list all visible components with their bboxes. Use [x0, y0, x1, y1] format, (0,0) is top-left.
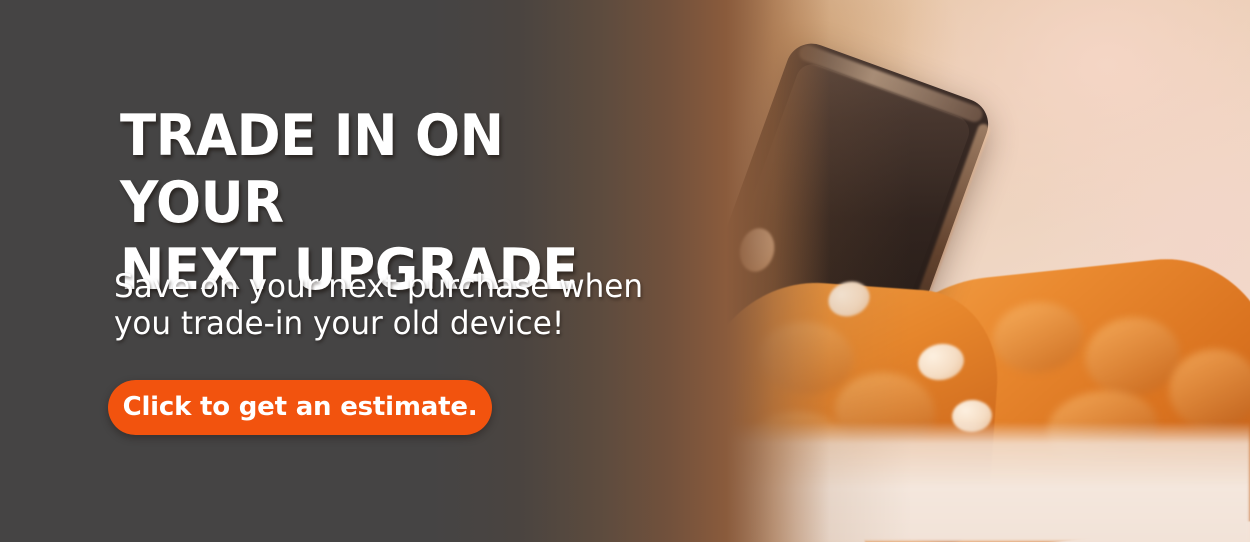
promotional-banner: TRADE IN ON YOUR NEXT UPGRADE Save on yo… — [0, 0, 1250, 542]
get-estimate-button[interactable]: Click to get an estimate. — [108, 380, 492, 435]
subheading: Save on your next purchase when you trad… — [114, 268, 696, 342]
banner-content: TRADE IN ON YOUR NEXT UPGRADE Save on yo… — [0, 0, 720, 542]
